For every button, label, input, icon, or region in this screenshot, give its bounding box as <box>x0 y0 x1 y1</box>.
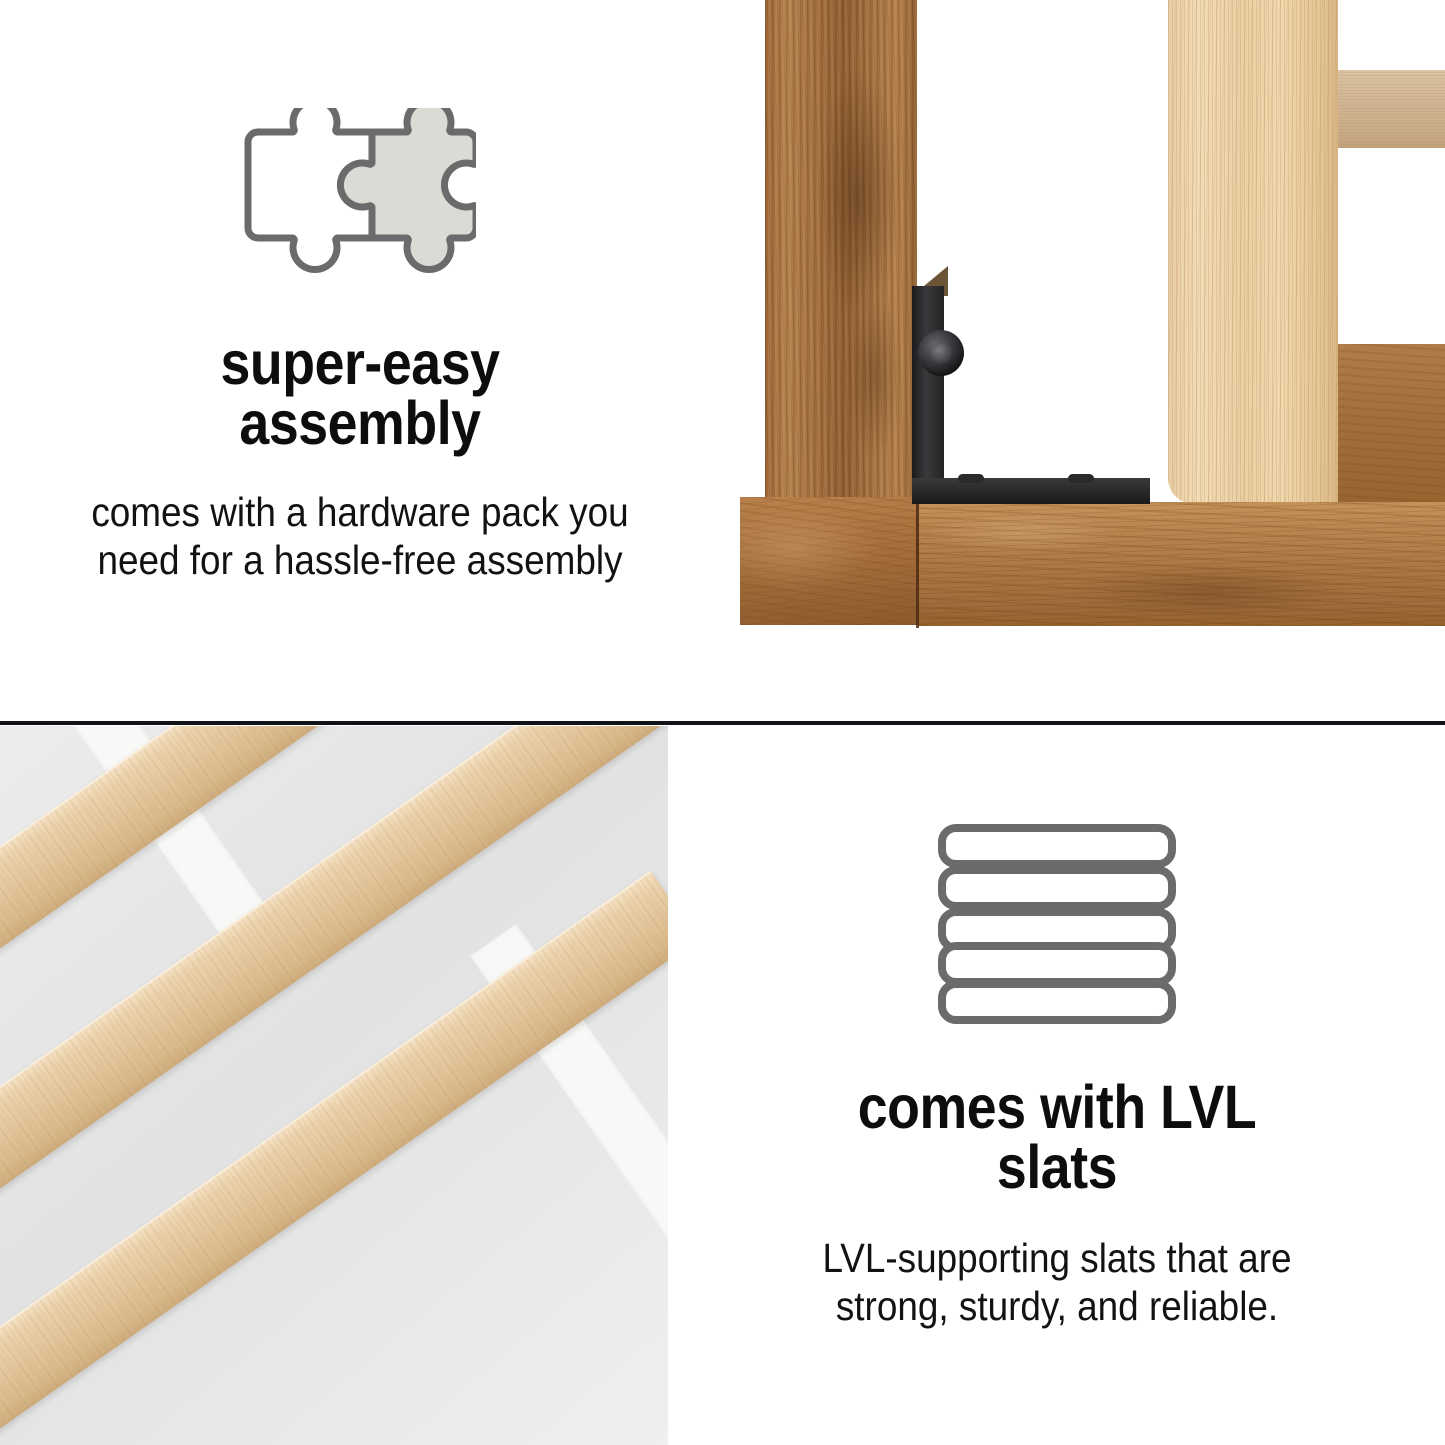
panel-subtitle-line-2: need for a hassle-free assembly <box>54 536 666 584</box>
dark-wood-foot-block <box>740 497 918 625</box>
panel-subtitle: LVL-supporting slats that are strong, st… <box>742 1234 1372 1331</box>
wood-slat <box>0 871 668 1445</box>
panel-super-easy-assembly: super-easy assembly comes with a hardwar… <box>0 0 720 722</box>
panel-title: comes with LVL slats <box>749 1078 1365 1198</box>
bracket-nub <box>958 474 984 483</box>
panel-comes-with-lvl-slats: comes with LVL slats LVL-supporting slat… <box>668 726 1445 1445</box>
horizontal-side-rail <box>918 502 1445 626</box>
panel-subtitle: comes with a hardware pack you need for … <box>54 488 666 585</box>
bed-frame-corner-bracket-photo <box>720 0 1445 722</box>
rail-joint-seam <box>916 500 919 628</box>
dark-wood-post <box>765 0 917 524</box>
rail-right-section <box>1338 344 1445 504</box>
panel-title: super-easy assembly <box>78 334 641 454</box>
metal-bracket-vertical-leg <box>912 286 944 504</box>
metal-bracket-horizontal-leg <box>912 478 1150 504</box>
bracket-nub <box>1068 474 1094 483</box>
panel-subtitle-line-2: strong, sturdy, and reliable. <box>742 1282 1372 1330</box>
panel-subtitle-line-1: LVL-supporting slats that are <box>742 1234 1372 1282</box>
lvl-wood-slats-photo <box>0 726 668 1445</box>
light-wood-slat <box>1338 70 1445 148</box>
light-wood-leg <box>1168 0 1338 504</box>
panel-title-line-2: slats <box>749 1138 1365 1198</box>
panel-title-line-1: comes with LVL <box>749 1078 1365 1138</box>
panel-title-line-2: assembly <box>78 394 641 454</box>
slats-stack-icon <box>938 822 1176 1026</box>
bracket-bolt-center <box>930 342 952 364</box>
puzzle-pieces-icon <box>244 108 476 280</box>
panel-title-line-1: super-easy <box>78 334 641 394</box>
panel-subtitle-line-1: comes with a hardware pack you <box>54 488 666 536</box>
horizontal-divider <box>0 721 1445 725</box>
feature-collage: super-easy assembly comes with a hardwar… <box>0 0 1445 1445</box>
